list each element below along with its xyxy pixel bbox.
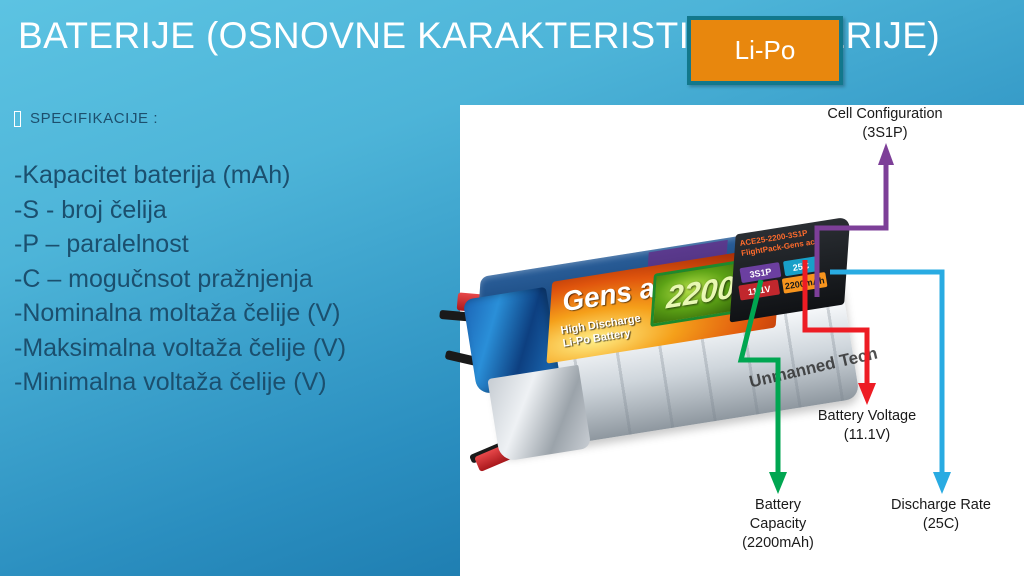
label-line: Battery Voltage [818,408,916,424]
specifications-heading-row: SPECIFIKACIJE : [14,110,158,127]
specifications-heading: SPECIFIKACIJE : [30,110,158,127]
page-title: BATERIJE (OSNOVNE KARAKTERISTIKE BATERIJ… [18,17,998,56]
diagram-panel: Gens ace High Discharge Li-Po Battery 22… [460,105,1024,576]
list-item: -Nominalna moltaža čelije (V) [14,296,444,331]
label-line: (3S1P) [862,125,907,141]
arrow-discharge-rate [830,272,951,494]
label-line: Cell Configuration [827,106,942,122]
tofu-box-icon [14,111,21,127]
label-line: (11.1V) [844,427,890,443]
lipo-callout-label: Li-Po [735,35,796,66]
list-item: -Maksimalna voltaža čelije (V) [14,331,444,366]
specifications-list: -Kapacitet baterija (mAh) -S - broj čeli… [14,158,444,400]
label-battery-voltage: Battery Voltage (11.1V) [792,407,942,445]
label-battery-capacity: Battery Capacity (2200mAh) [718,496,838,553]
label-discharge-rate: Discharge Rate (25C) [866,496,1016,534]
list-item: -C – mogučnsot pražnjenja [14,262,444,297]
list-item: -P – paralelnost [14,227,444,262]
label-line: Discharge Rate [891,497,991,513]
label-line: (25C) [923,516,959,532]
list-item: -S - broj čelija [14,193,444,228]
label-cell-configuration: Cell Configuration (3S1P) [790,105,980,143]
list-item: -Minimalna voltaža čelije (V) [14,365,444,400]
label-line: Battery [755,497,801,513]
lipo-callout-box[interactable]: Li-Po [687,16,843,85]
label-line: (2200mAh) [742,535,814,551]
label-line: Capacity [750,516,806,532]
slide-canvas: BATERIJE (OSNOVNE KARAKTERISTIKE BATERIJ… [0,0,1024,576]
list-item: -Kapacitet baterija (mAh) [14,158,444,193]
arrow-battery-capacity [741,280,787,494]
